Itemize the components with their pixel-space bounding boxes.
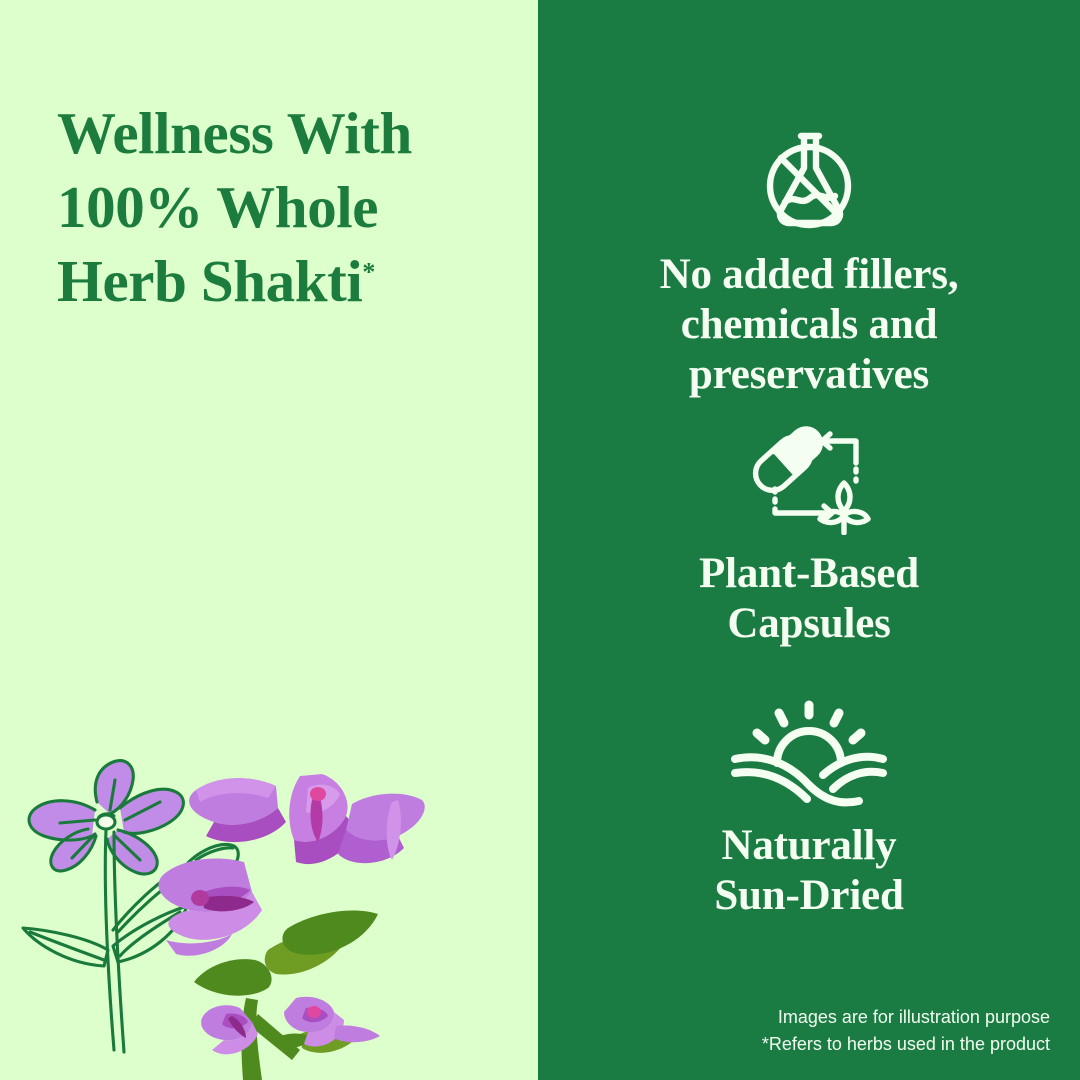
feature-1-line-1: Plant-Based xyxy=(699,549,919,599)
feature-0-line-3: preservatives xyxy=(660,350,959,400)
disclaimer-line-1: Images are for illustration purpose xyxy=(762,1004,1050,1031)
promo-poster: Wellness With 100% Whole Herb Shakti* xyxy=(0,0,1080,1080)
headline-line-1: Wellness With xyxy=(57,96,507,170)
feature-0-line-1: No added fillers, xyxy=(660,250,959,300)
disclaimer-line-2: *Refers to herbs used in the product xyxy=(762,1031,1050,1058)
feature-2-line-1: Naturally xyxy=(714,821,903,871)
feature-1-line-2: Capsules xyxy=(699,599,919,649)
bract-mid-left xyxy=(158,858,262,955)
feature-0-line-2: chemicals and xyxy=(660,300,959,350)
feature-label-no-added-fillers: No added fillers, chemicals and preserva… xyxy=(660,250,959,400)
feature-label-plant-based-capsules: Plant-Based Capsules xyxy=(699,549,919,649)
no-chemicals-flask-icon xyxy=(754,126,864,236)
bract-upper-left xyxy=(189,778,286,842)
feature-plant-based-capsules: Plant-Based Capsules xyxy=(538,425,1080,649)
sun-dried-icon xyxy=(729,697,889,807)
disclaimer-text: Images are for illustration purpose *Ref… xyxy=(762,1004,1050,1058)
headline-line-3: Herb Shakti* xyxy=(57,244,507,318)
feature-label-naturally-sun-dried: Naturally Sun-Dried xyxy=(714,821,903,921)
headline-line-2: 100% Whole xyxy=(57,170,507,244)
bract-upper-right xyxy=(338,794,425,864)
asterisk-mark: * xyxy=(362,257,375,286)
left-panel: Wellness With 100% Whole Herb Shakti* xyxy=(0,0,538,1080)
feature-no-added-fillers: No added fillers, chemicals and preserva… xyxy=(538,126,1080,400)
bougainvillea-flower xyxy=(158,774,424,1080)
headline-line-3-text: Herb Shakti xyxy=(57,248,362,314)
page-title: Wellness With 100% Whole Herb Shakti* xyxy=(57,96,507,318)
feature-naturally-sun-dried: Naturally Sun-Dried xyxy=(538,697,1080,921)
right-panel: No added fillers, chemicals and preserva… xyxy=(538,0,1080,1080)
feature-2-line-2: Sun-Dried xyxy=(714,871,903,921)
plant-based-capsule-icon xyxy=(744,425,874,535)
flower-illustration xyxy=(0,750,538,1080)
